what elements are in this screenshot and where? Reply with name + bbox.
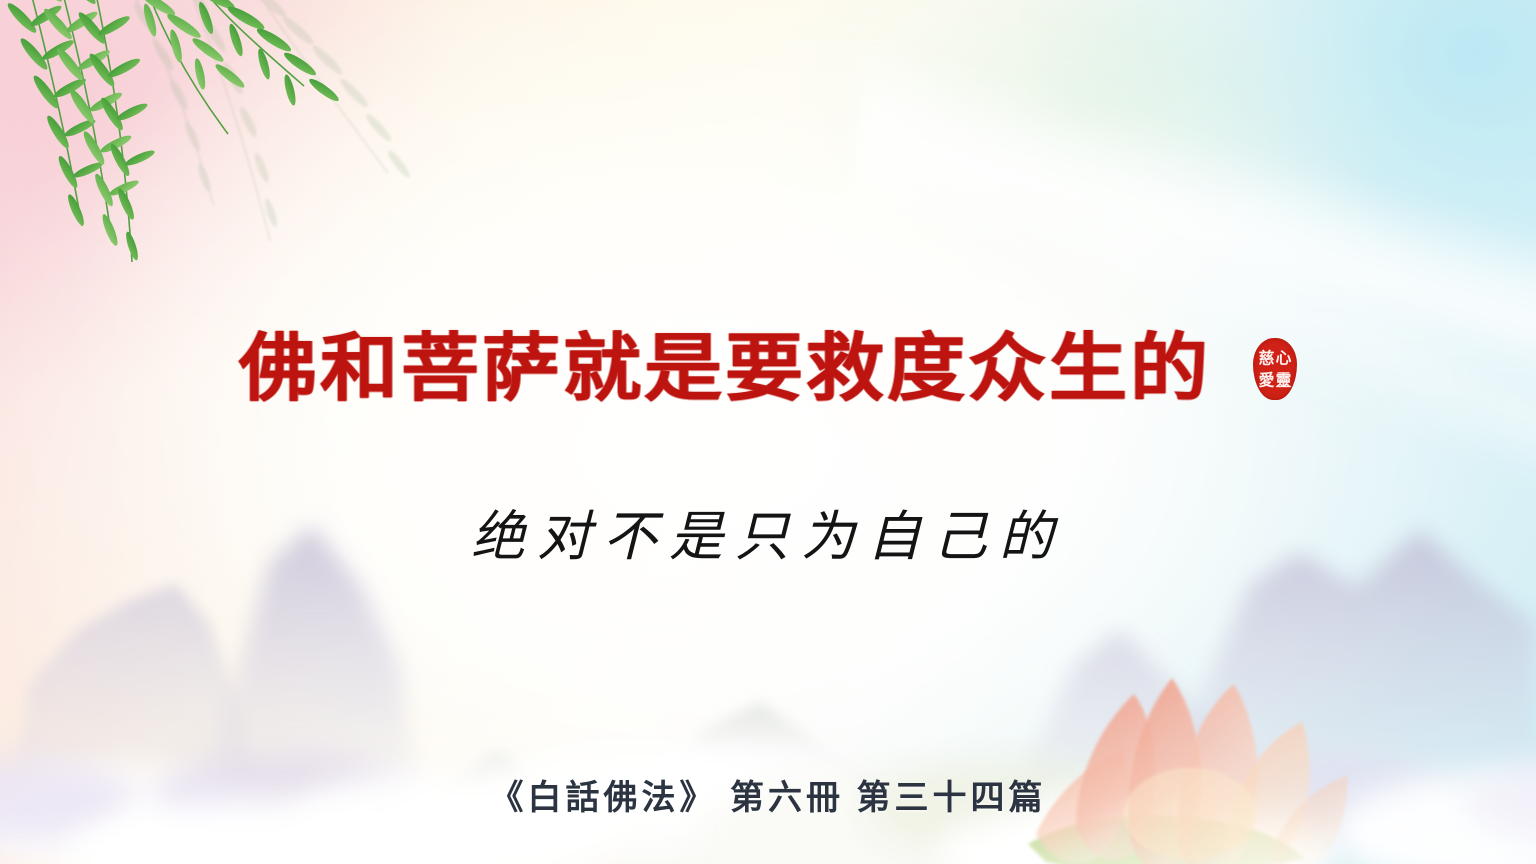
- waterfall-light-icon: [860, 0, 1536, 553]
- headline-text: 佛和菩萨就是要救度众生的: [239, 332, 1211, 406]
- seal-stamp-icon: 慈 心 愛 靈: [1253, 338, 1297, 400]
- background-base-gradient: [0, 0, 1536, 864]
- background-cream-glow: [0, 0, 1536, 864]
- background-pink-glow: [0, 0, 1536, 864]
- seal-glyph-grid: 慈 心 愛 靈: [1258, 347, 1292, 391]
- willow-shadow-icon: [54, 0, 516, 334]
- seal-glyph-1: 慈: [1258, 346, 1276, 369]
- background-green-glow: [0, 0, 1536, 864]
- subheadline-text: 绝对不是只为自己的: [0, 505, 1536, 570]
- willow-branch-icon: [0, 0, 410, 304]
- seal-glyph-2: 心: [1275, 346, 1293, 369]
- headline-row: 佛和菩萨就是要救度众生的 慈 心 愛 靈: [0, 330, 1536, 408]
- slide-canvas: 佛和菩萨就是要救度众生的 慈 心 愛 靈 绝对不是只为自己的 《白話佛法》 第六…: [0, 0, 1536, 864]
- source-caption-text: 《白話佛法》 第六冊 第三十四篇: [0, 779, 1536, 820]
- seal-glyph-3: 愛: [1258, 368, 1276, 391]
- seal-glyph-4: 靈: [1275, 368, 1293, 391]
- lotus-flower-icon: [1018, 638, 1348, 864]
- cloud-band-icon: [0, 644, 1536, 864]
- background-cyan-glow: [0, 0, 1536, 864]
- background-white-veil: [0, 0, 1536, 864]
